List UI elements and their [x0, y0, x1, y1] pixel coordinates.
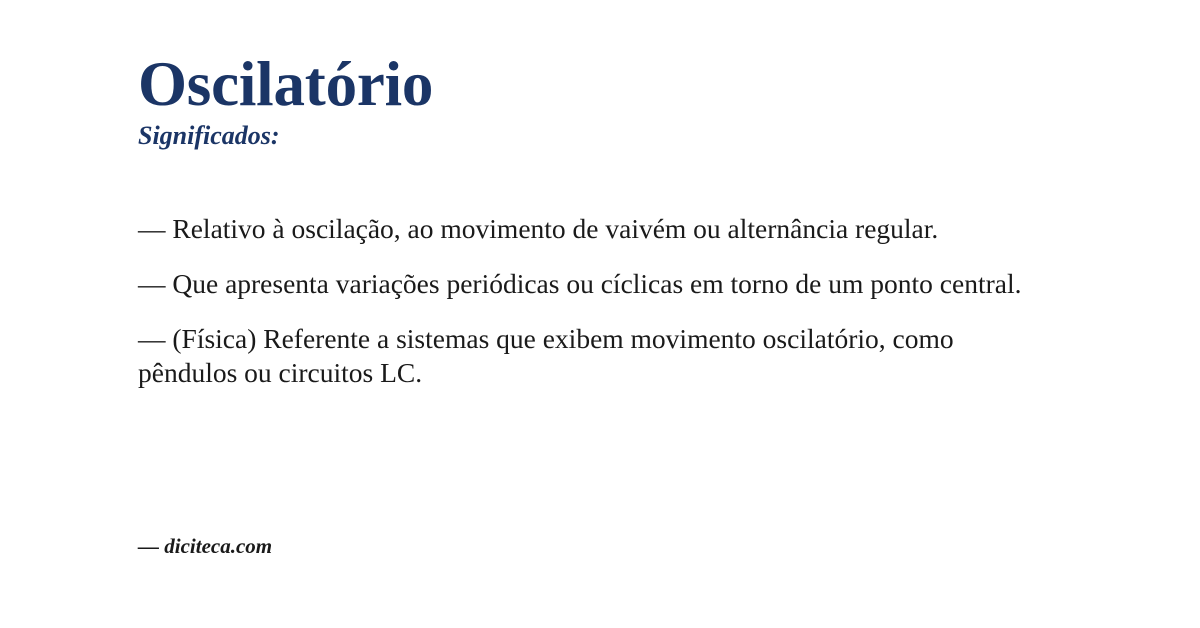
definition-text: Relativo à oscilação, ao movimento de va… — [172, 213, 938, 244]
definition-card: Oscilatório Significados: — Relativo à o… — [0, 0, 1200, 628]
meanings-label: Significados: — [138, 122, 1138, 151]
definition-text: Que apresenta variações periódicas ou cí… — [172, 268, 1021, 299]
page-title: Oscilatório — [138, 52, 1138, 116]
em-dash-icon: — — [138, 213, 172, 244]
card-header: Oscilatório Significados: — [138, 52, 1138, 151]
source-credit: — diciteca.com — [138, 534, 272, 559]
definitions-list: — Relativo à oscilação, ao movimento de … — [138, 212, 1044, 390]
definition-item: — Que apresenta variações periódicas ou … — [138, 267, 1044, 301]
card-footer: — diciteca.com — [138, 534, 272, 559]
em-dash-icon: — — [138, 268, 172, 299]
em-dash-icon: — — [138, 323, 172, 354]
definition-item: — Relativo à oscilação, ao movimento de … — [138, 212, 1044, 246]
en-dash-icon: — — [138, 534, 164, 558]
definition-item: — (Física) Referente a sistemas que exib… — [138, 322, 1044, 390]
definition-text: (Física) Referente a sistemas que exibem… — [138, 323, 954, 388]
source-domain: diciteca.com — [164, 534, 272, 558]
